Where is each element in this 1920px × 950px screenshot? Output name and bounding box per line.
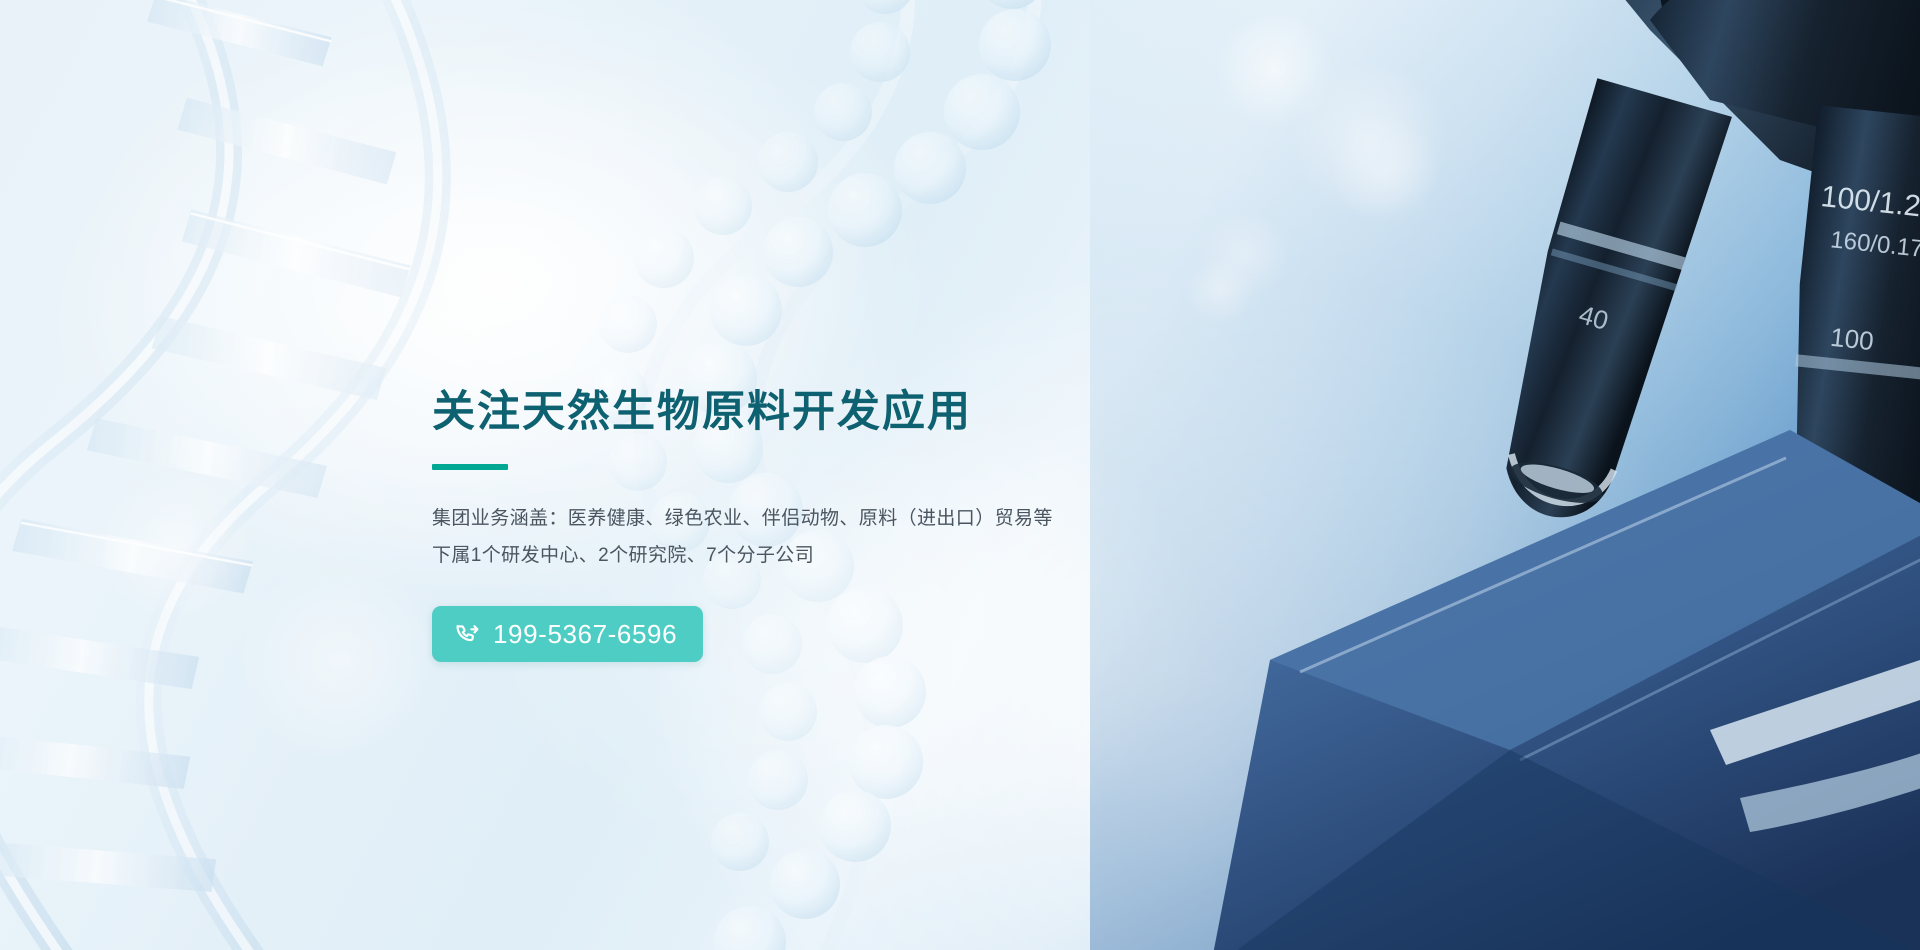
phone-call-button[interactable]: 199-5367-6596 [432, 606, 703, 662]
bokeh-light-6 [100, 470, 250, 620]
bokeh-light-2 [1290, 60, 1450, 220]
microscope-label-aperture: 100/1.25 [1819, 180, 1920, 225]
phone-outgoing-icon [454, 621, 481, 648]
hero-description-line-2: 下属1个研发中心、2个研究院、7个分子公司 [432, 537, 1132, 574]
microscope-label-tube: 160/0.17 [1829, 226, 1920, 263]
bokeh-light-3 [1330, 115, 1440, 225]
microscope-decoration: 40 100/1.25 160/0.17 100 [1090, 0, 1920, 950]
microscope-label-100: 100 [1829, 322, 1875, 356]
hero-description: 集团业务涵盖：医养健康、绿色农业、伴侣动物、原料（进出口）贸易等 下属1个研发中… [432, 500, 1132, 574]
phone-number-label: 199-5367-6596 [493, 621, 677, 647]
bokeh-light-8 [1060, 640, 1300, 880]
microscope-label-40: 40 [1576, 299, 1612, 336]
hero-banner: 40 100/1.25 160/0.17 100 [0, 0, 1920, 950]
bokeh-light-7 [240, 560, 440, 760]
bokeh-light-1 [1215, 10, 1335, 130]
hero-content: 关注天然生物原料开发应用 集团业务涵盖：医养健康、绿色农业、伴侣动物、原料（进出… [432, 388, 1132, 662]
page-title: 关注天然生物原料开发应用 [432, 388, 1132, 437]
bokeh-light-4 [1200, 210, 1290, 300]
hero-description-line-1: 集团业务涵盖：医养健康、绿色农业、伴侣动物、原料（进出口）贸易等 [432, 500, 1132, 537]
title-divider [432, 464, 508, 470]
bokeh-light-5 [1185, 255, 1255, 325]
